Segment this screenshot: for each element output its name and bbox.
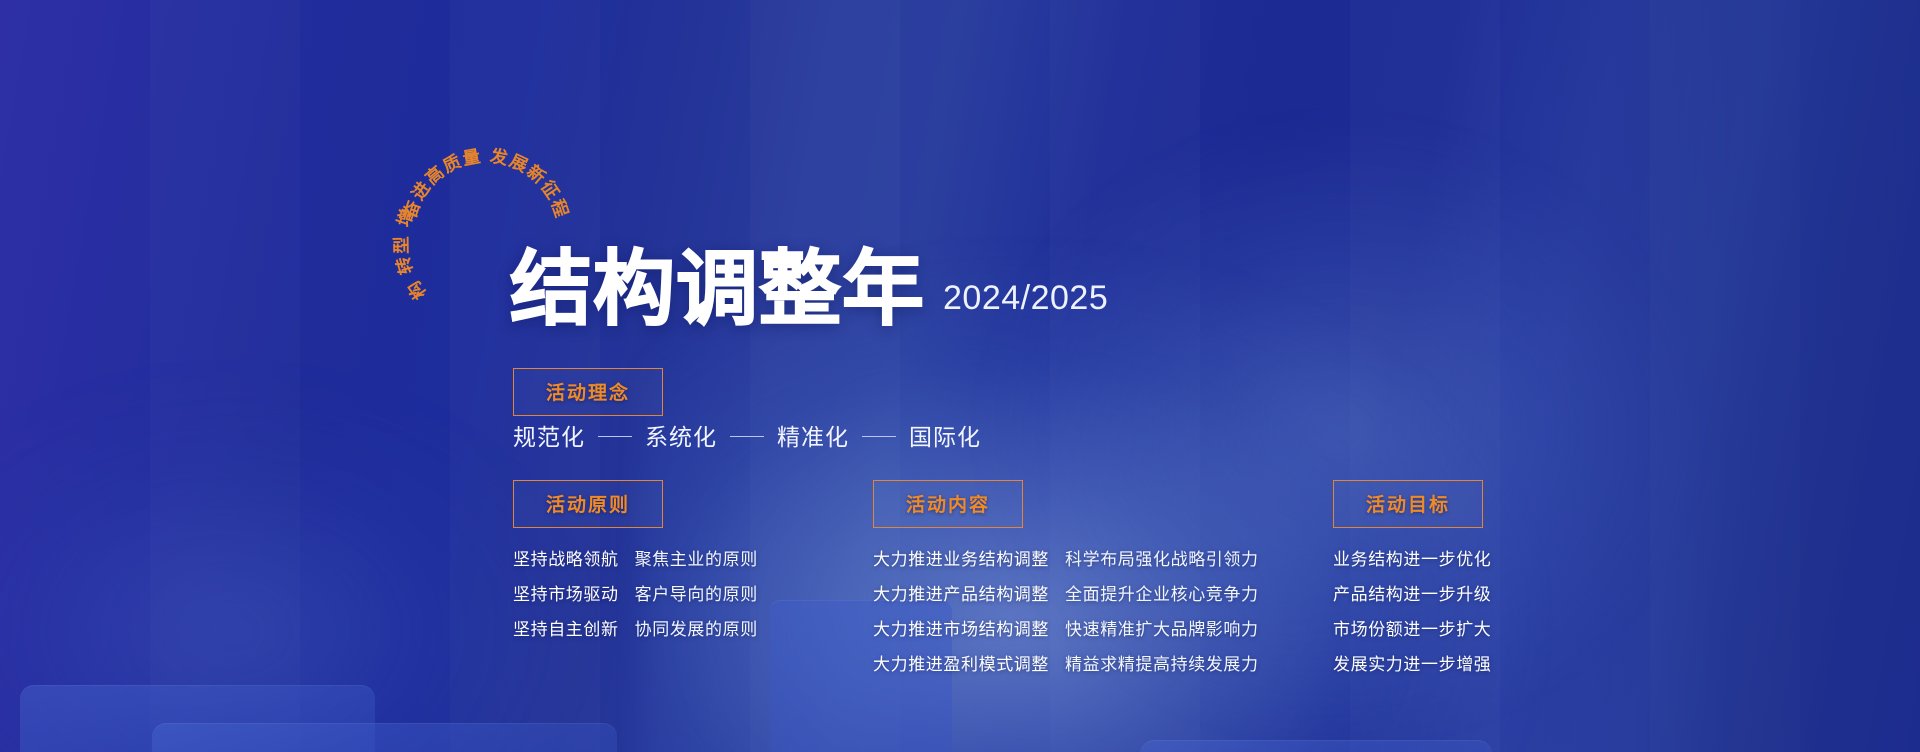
goal-row-left: 业务结构进一步优化: [1333, 545, 1491, 570]
content-row: 大力推进产品结构调整全面提升企业核心竞争力: [873, 580, 1259, 605]
title-block: 结构调整年 2024/2025: [510, 252, 1108, 327]
content-row-left: 大力推进市场结构调整: [873, 615, 1049, 640]
poster-canvas: 奋进高质量 发展新征程 调结构 转型 增动能 结构调整年 2024/2025 活…: [0, 0, 1920, 752]
goal-row: 业务结构进一步优化: [1333, 545, 1491, 570]
concept-section: 活动理念: [513, 368, 663, 416]
concept-separator-icon: [862, 436, 896, 437]
badge-concept[interactable]: 活动理念: [513, 368, 663, 416]
title-year: 2024/2025: [943, 279, 1108, 327]
goal-row-left: 发展实力进一步增强: [1333, 650, 1491, 675]
principle-row-right: 聚焦主业的原则: [635, 545, 758, 570]
decorative-rectangle-2: [152, 723, 617, 752]
concept-separator-icon: [730, 436, 764, 437]
principle-row-right: 客户导向的原则: [635, 580, 758, 605]
content-row-left: 大力推进业务结构调整: [873, 545, 1049, 570]
goals-list: 业务结构进一步优化产品结构进一步升级市场份额进一步扩大发展实力进一步增强: [1333, 545, 1491, 675]
content-row-right: 科学布局强化战略引领力: [1065, 545, 1259, 570]
background-right-shade: [1500, 0, 1920, 752]
principle-row-left: 坚持战略领航: [513, 545, 619, 570]
principles-section: 活动原则 坚持战略领航聚焦主业的原则坚持市场驱动客户导向的原则坚持自主创新协同发…: [513, 480, 758, 640]
badge-content[interactable]: 活动内容: [873, 480, 1023, 528]
principle-row-right: 协同发展的原则: [635, 615, 758, 640]
goal-row-left: 产品结构进一步升级: [1333, 580, 1491, 605]
content-row-left: 大力推进盈利模式调整: [873, 650, 1049, 675]
principle-row-left: 坚持市场驱动: [513, 580, 619, 605]
concept-values-row: 规范化 系统化 精准化 国际化: [513, 418, 981, 452]
goal-row: 产品结构进一步升级: [1333, 580, 1491, 605]
concept-separator-icon: [598, 436, 632, 437]
principle-row: 坚持市场驱动客户导向的原则: [513, 580, 758, 605]
goal-row: 发展实力进一步增强: [1333, 650, 1491, 675]
principle-row: 坚持战略领航聚焦主业的原则: [513, 545, 758, 570]
goals-section: 活动目标 业务结构进一步优化产品结构进一步升级市场份额进一步扩大发展实力进一步增…: [1333, 480, 1491, 675]
principles-list: 坚持战略领航聚焦主业的原则坚持市场驱动客户导向的原则坚持自主创新协同发展的原则: [513, 545, 758, 640]
page-title: 结构调整年: [510, 252, 925, 327]
content-row-left: 大力推进产品结构调整: [873, 580, 1049, 605]
seal-text-top: 奋进高质量 发展新征程: [399, 146, 572, 223]
badge-principles[interactable]: 活动原则: [513, 480, 663, 528]
goal-row-left: 市场份额进一步扩大: [1333, 615, 1491, 640]
content-row-right: 精益求精提高持续发展力: [1065, 650, 1259, 675]
content-row-right: 全面提升企业核心竞争力: [1065, 580, 1259, 605]
content-row: 大力推进市场结构调整快速精准扩大品牌影响力: [873, 615, 1259, 640]
decorative-rectangle-4: [1140, 740, 1492, 752]
content-row: 大力推进盈利模式调整精益求精提高持续发展力: [873, 650, 1259, 675]
badge-goals[interactable]: 活动目标: [1333, 480, 1483, 528]
concept-value-2: 精准化: [777, 418, 849, 452]
content-row-right: 快速精准扩大品牌影响力: [1065, 615, 1259, 640]
content-section: 活动内容 大力推进业务结构调整科学布局强化战略引领力大力推进产品结构调整全面提升…: [873, 480, 1259, 675]
content-list: 大力推进业务结构调整科学布局强化战略引领力大力推进产品结构调整全面提升企业核心竞…: [873, 545, 1259, 675]
concept-value-0: 规范化: [513, 418, 585, 452]
principle-row: 坚持自主创新协同发展的原则: [513, 615, 758, 640]
content-row: 大力推进业务结构调整科学布局强化战略引领力: [873, 545, 1259, 570]
principle-row-left: 坚持自主创新: [513, 615, 619, 640]
concept-value-3: 国际化: [909, 418, 981, 452]
goal-row: 市场份额进一步扩大: [1333, 615, 1491, 640]
concept-value-1: 系统化: [645, 418, 717, 452]
